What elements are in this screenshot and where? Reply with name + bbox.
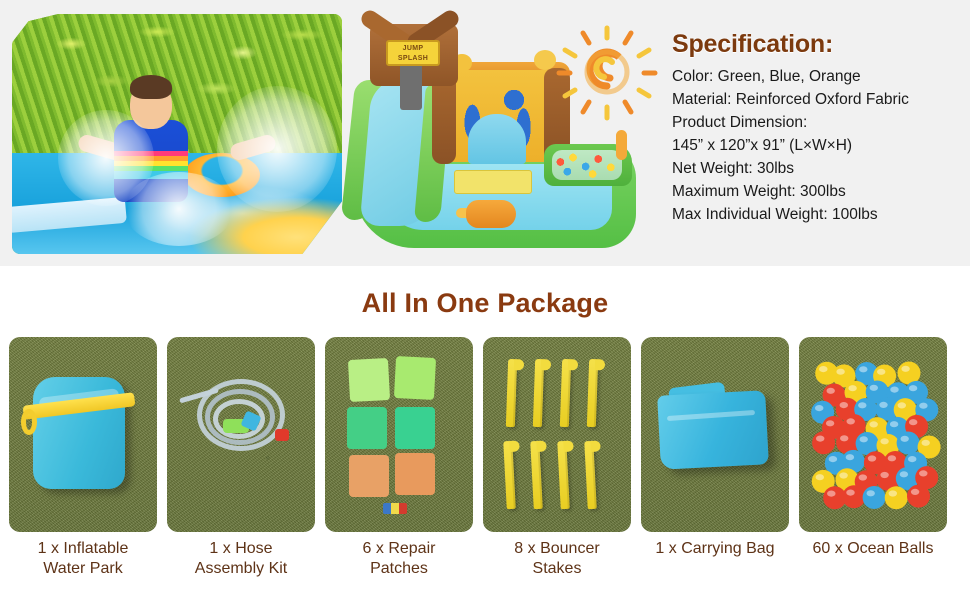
caption-line-1: 1 x Hose bbox=[209, 540, 272, 557]
stake-top-3 bbox=[560, 359, 571, 427]
stake-bottom-2 bbox=[530, 441, 543, 509]
caption-line-1: 6 x Repair bbox=[363, 540, 436, 557]
ocean-ball-40 bbox=[842, 485, 865, 508]
sign-line-1: JUMP bbox=[403, 45, 424, 52]
spec-line-maximum-weight: Maximum Weight: 300lbs bbox=[672, 180, 962, 203]
patch-orange-1 bbox=[349, 455, 389, 497]
caption-carrying-bag: 1 x Carrying Bag bbox=[633, 539, 797, 559]
patch-light-green-2 bbox=[394, 356, 436, 400]
stake-bottom-3 bbox=[557, 441, 570, 509]
spec-line-max-individual: Max Individual Weight: 100lbs bbox=[672, 203, 962, 226]
splash-center bbox=[124, 172, 234, 246]
spec-line-material: Material: Reinforced Oxford Fabric bbox=[672, 88, 962, 111]
caption-hose-assembly-kit: 1 x Hose Assembly Kit bbox=[159, 539, 323, 579]
package-item-ocean-balls: 60 x Ocean Balls bbox=[799, 337, 947, 532]
caption-inflatable-water-park: 1 x Inflatable Water Park bbox=[1, 539, 165, 579]
ocean-ball-43 bbox=[907, 485, 930, 508]
spec-line-net-weight: Net Weight: 30lbs bbox=[672, 157, 962, 180]
caption-line-2: Stakes bbox=[533, 560, 582, 577]
ocean-ball-41 bbox=[863, 486, 886, 509]
child-hair bbox=[130, 75, 172, 99]
package-item-carrying-bag: 1 x Carrying Bag bbox=[641, 337, 789, 532]
water-sprayer bbox=[466, 200, 516, 228]
blue-carrying-bag bbox=[657, 390, 769, 470]
patch-orange-2 bbox=[395, 453, 435, 495]
ocean-ball-22 bbox=[812, 431, 835, 454]
top-specification-section: JUMPSPLASH Specificat bbox=[0, 0, 970, 266]
yellow-warning-label bbox=[454, 170, 532, 194]
orange-post bbox=[616, 130, 627, 160]
package-item-repair-patches: 6 x Repair Patches bbox=[325, 337, 473, 532]
strap-loop bbox=[21, 409, 37, 435]
glue-tube bbox=[383, 503, 407, 514]
hero-photo-child-splashing bbox=[12, 14, 342, 254]
caption-line-2: Patches bbox=[370, 560, 428, 577]
specification-block: Specification: Color: Green, Blue, Orang… bbox=[672, 30, 962, 226]
stake-top-1 bbox=[506, 359, 517, 427]
ball-pit-balls bbox=[552, 150, 622, 180]
photo-hose-kit bbox=[167, 337, 315, 532]
spec-line-dimension-label: Product Dimension: bbox=[672, 111, 962, 134]
package-item-hose-assembly-kit: 1 x Hose Assembly Kit bbox=[167, 337, 315, 532]
caption-line-2: Assembly Kit bbox=[195, 560, 287, 577]
caption-line-1: 8 x Bouncer bbox=[514, 540, 599, 557]
jump-splash-sign: JUMPSPLASH bbox=[386, 40, 440, 66]
sun-icon bbox=[552, 24, 662, 124]
ocean-ball-26 bbox=[897, 432, 920, 455]
patch-light-green-1 bbox=[348, 358, 390, 402]
photo-bouncer-stakes bbox=[483, 337, 631, 532]
photo-rolled-water-park bbox=[9, 337, 157, 532]
patch-green-2 bbox=[395, 407, 435, 449]
caption-line-1: 60 x Ocean Balls bbox=[813, 540, 934, 557]
tower-post bbox=[400, 64, 422, 110]
photo-carrying-bag bbox=[641, 337, 789, 532]
package-item-bouncer-stakes: 8 x Bouncer Stakes bbox=[483, 337, 631, 532]
photo-ocean-balls bbox=[799, 337, 947, 532]
splash-right bbox=[217, 86, 337, 212]
caption-line-1: 1 x Carrying Bag bbox=[655, 540, 774, 557]
ocean-ball-42 bbox=[885, 486, 908, 509]
stake-top-4 bbox=[587, 359, 598, 427]
caption-repair-patches: 6 x Repair Patches bbox=[317, 539, 481, 579]
stake-top-2 bbox=[533, 359, 544, 427]
caption-line-1: 1 x Inflatable bbox=[38, 540, 129, 557]
caption-ocean-balls: 60 x Ocean Balls bbox=[791, 539, 955, 559]
ocean-balls-pile bbox=[799, 337, 947, 532]
sign-line-2: SPLASH bbox=[398, 55, 428, 62]
spec-line-color: Color: Green, Blue, Orange bbox=[672, 65, 962, 88]
photo-repair-patches bbox=[325, 337, 473, 532]
patch-green-1 bbox=[347, 407, 387, 449]
package-item-inflatable-water-park: 1 x Inflatable Water Park bbox=[9, 337, 157, 532]
package-title: All In One Package bbox=[0, 288, 970, 319]
caption-bouncer-stakes: 8 x Bouncer Stakes bbox=[475, 539, 639, 579]
specification-title: Specification: bbox=[672, 30, 962, 59]
caption-line-2: Water Park bbox=[43, 560, 122, 577]
stake-bottom-4 bbox=[584, 441, 597, 509]
stake-bottom-1 bbox=[503, 441, 516, 509]
spec-line-dimension-value: 145” x 120”x 91” (L×W×H) bbox=[672, 134, 962, 157]
red-clip bbox=[275, 429, 289, 441]
package-items-row: 1 x Inflatable Water Park 1 x Hose Assem… bbox=[9, 337, 961, 532]
bounce-house-doorway bbox=[468, 114, 526, 164]
all-in-one-package-section: All In One Package 1 x Inflatable Water … bbox=[0, 266, 970, 600]
